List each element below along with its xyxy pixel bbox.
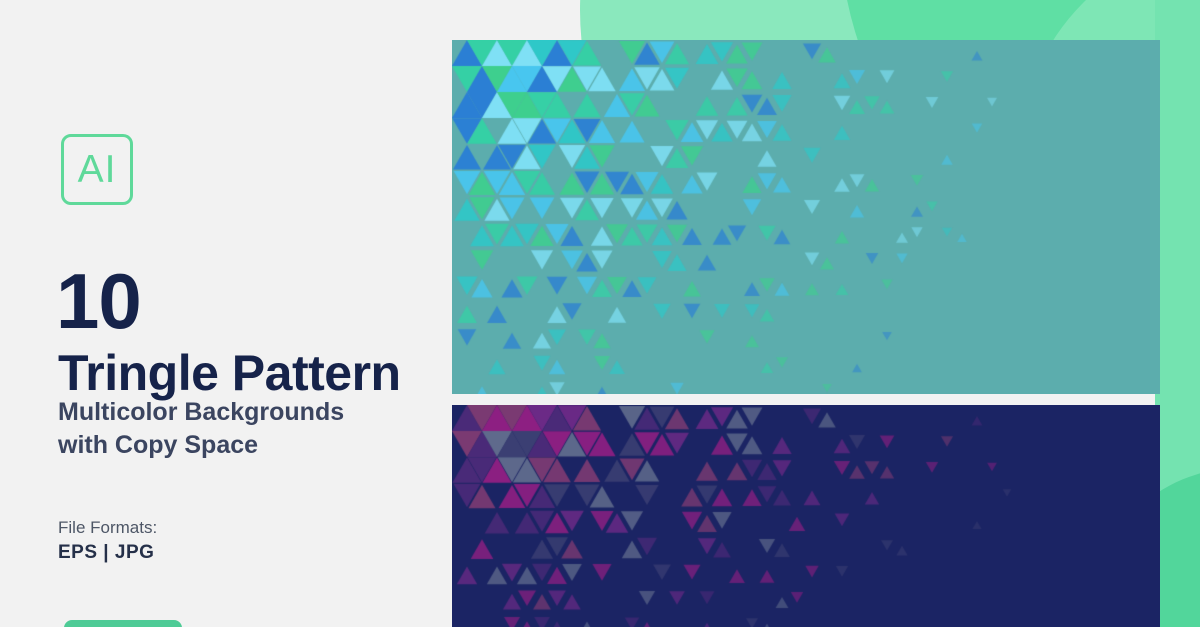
preview-banner: AI 10 Tringle Pattern Multicolor Backgro… (0, 0, 1200, 627)
triangle-pattern-canvas-teal (452, 40, 1160, 394)
preview-thumbnail-teal[interactable] (452, 40, 1160, 394)
page-title: Tringle Pattern (58, 348, 401, 398)
file-formats-label: File Formats: (58, 518, 157, 538)
file-formats-value: EPS | JPG (58, 542, 154, 564)
preview-thumbnail-navy[interactable] (452, 405, 1160, 627)
triangle-pattern-canvas-navy (452, 405, 1160, 627)
cta-button[interactable] (64, 620, 182, 627)
item-count: 10 (56, 262, 141, 340)
ai-format-badge-label: AI (78, 150, 117, 189)
page-subtitle: Multicolor Backgroundswith Copy Space (58, 396, 458, 462)
ai-format-badge: AI (61, 134, 133, 205)
